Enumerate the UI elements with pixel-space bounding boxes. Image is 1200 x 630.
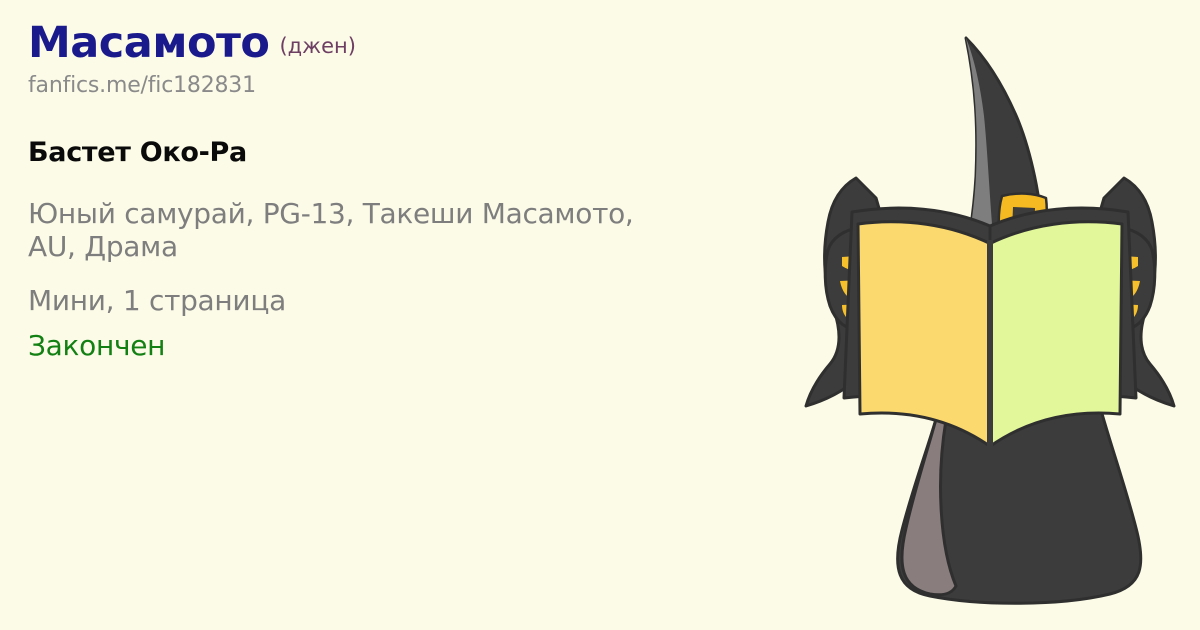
story-status: Закончен <box>28 329 728 362</box>
story-category-label: (джен) <box>279 34 355 58</box>
author-name: Бастет Око-Ра <box>28 138 728 168</box>
title-row: Масамото(джен) <box>28 22 728 65</box>
story-preview-card: Масамото(джен) fanfics.me/fic182831 Баст… <box>0 0 1200 630</box>
story-tags: Юный самурай, PG-13, Такеши Масамото, AU… <box>28 197 688 263</box>
story-title: Масамото <box>28 18 269 68</box>
book-spine <box>987 240 993 452</box>
witch-reading-book-illustration <box>780 0 1200 630</box>
book-page-left <box>858 222 991 447</box>
book-page-right <box>989 222 1122 447</box>
site-url[interactable]: fanfics.me/fic182831 <box>28 74 728 98</box>
story-size: Мини, 1 страница <box>28 284 728 317</box>
story-text-column: Масамото(джен) fanfics.me/fic182831 Баст… <box>28 22 728 362</box>
